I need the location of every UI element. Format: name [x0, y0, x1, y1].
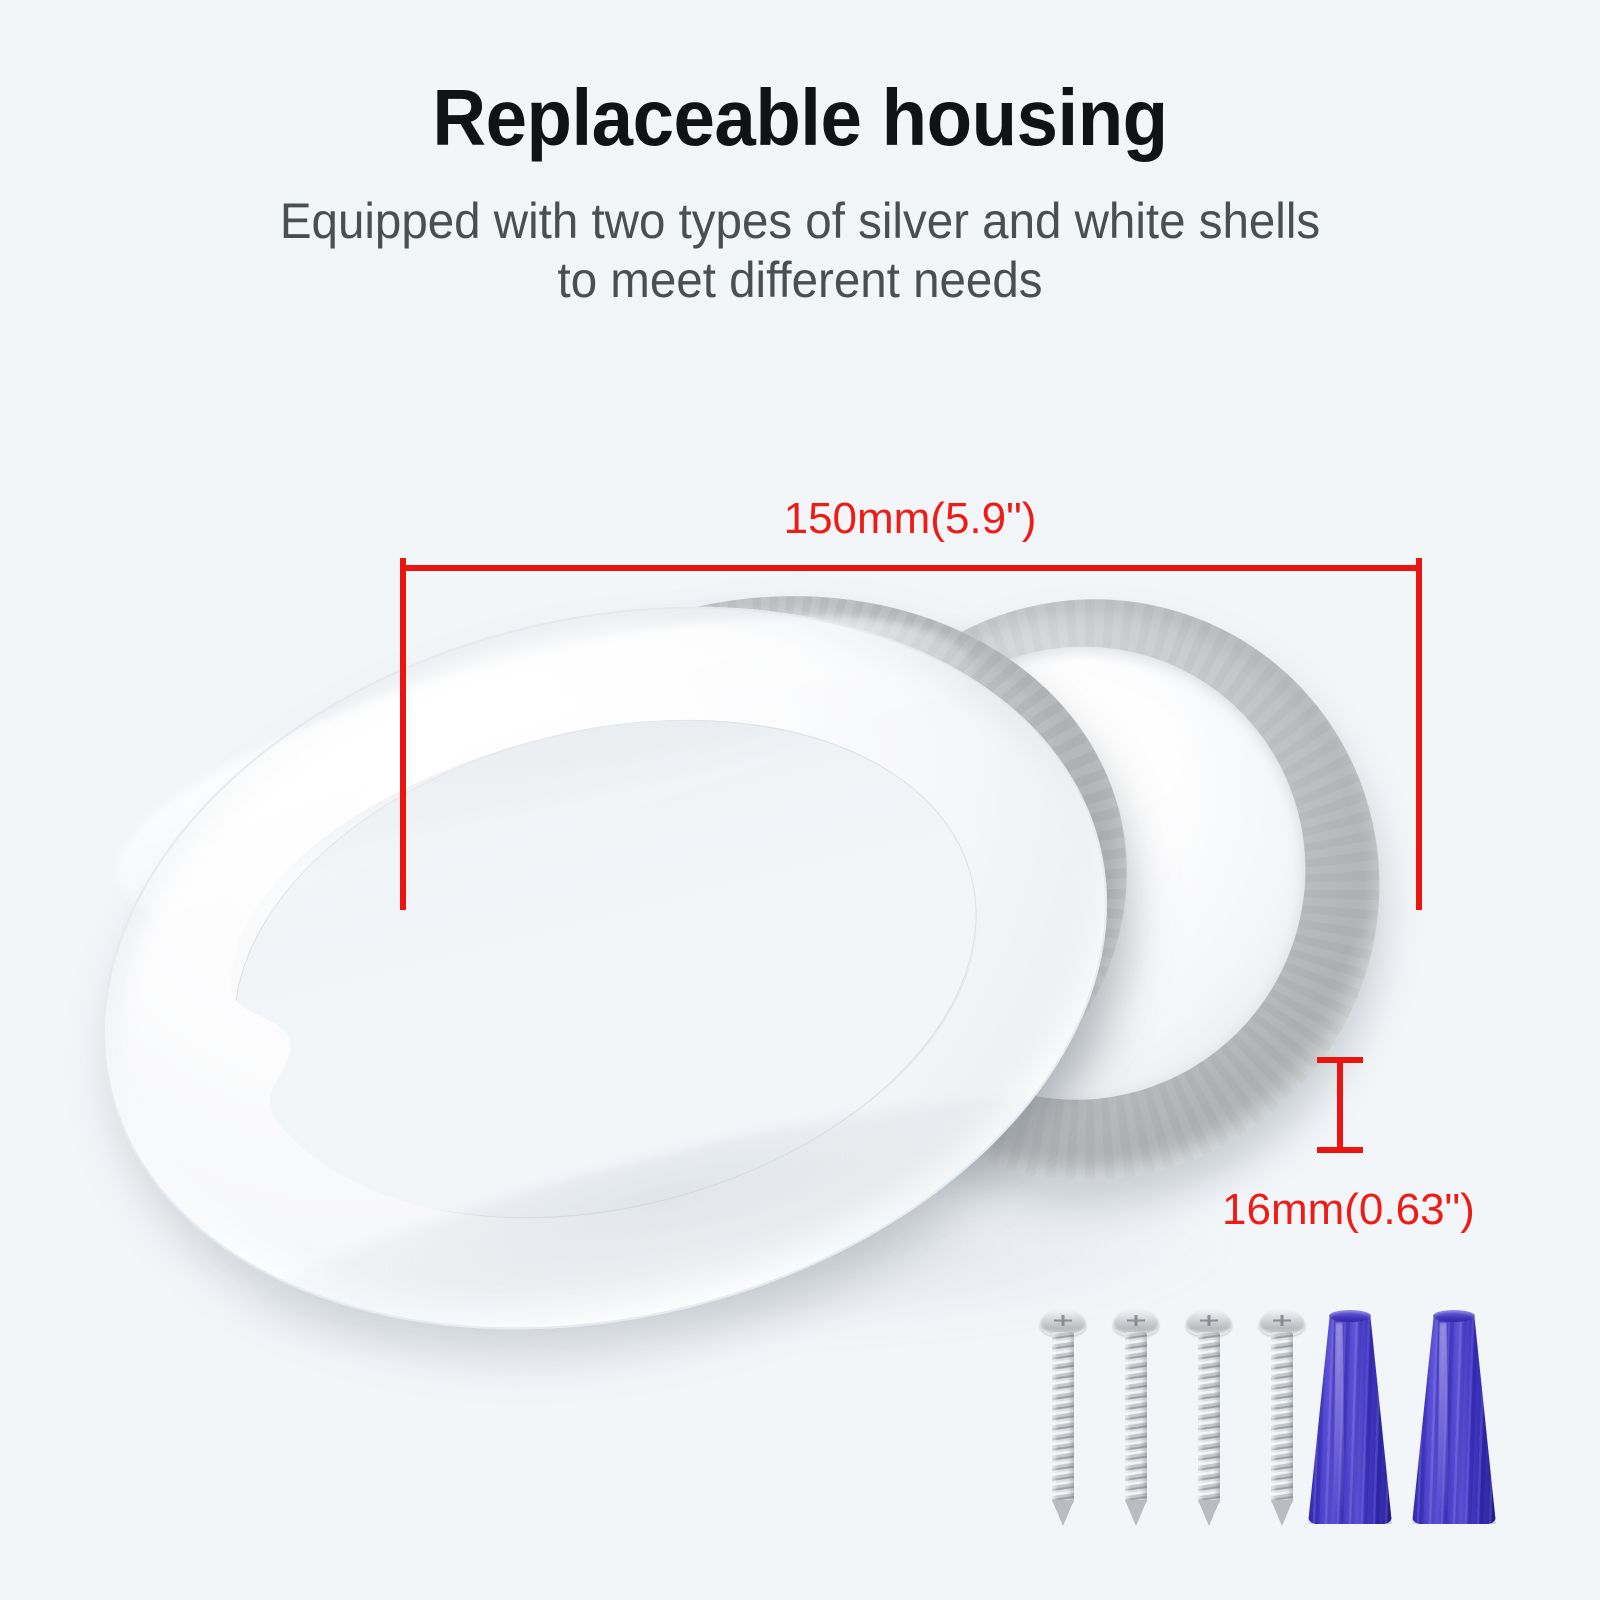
width-dimension-tick-left [400, 558, 406, 910]
width-dimension-line [400, 565, 1422, 571]
mounting-screw [1259, 1310, 1305, 1528]
mounting-screw [1040, 1310, 1086, 1528]
wire-nut-top [1329, 1310, 1371, 1322]
screw-tip [1271, 1500, 1293, 1526]
width-dimension-tick-right [1416, 558, 1422, 910]
wire-nut-ribs [1412, 1314, 1496, 1524]
width-dimension-label: 150mm(5.9") [110, 494, 1600, 544]
blue-wire-nut [1412, 1314, 1496, 1524]
screw-tip [1052, 1500, 1074, 1526]
screw-thread [1198, 1332, 1220, 1504]
thickness-dimension-line [1337, 1057, 1343, 1153]
mounting-screw [1113, 1310, 1159, 1528]
wire-nut-ribs [1308, 1314, 1392, 1524]
mounting-screw [1186, 1310, 1232, 1528]
wire-nut-top [1433, 1310, 1475, 1322]
thickness-dimension-cap-bottom [1317, 1147, 1363, 1153]
screw-thread [1052, 1332, 1074, 1504]
screw-tip [1198, 1500, 1220, 1526]
included-hardware-group [1040, 1310, 1460, 1540]
screw-tip [1125, 1500, 1147, 1526]
screw-thread [1271, 1332, 1293, 1504]
screw-thread [1125, 1332, 1147, 1504]
blue-wire-nut [1308, 1314, 1392, 1524]
thickness-dimension-label: 16mm(0.63") [1222, 1185, 1475, 1235]
